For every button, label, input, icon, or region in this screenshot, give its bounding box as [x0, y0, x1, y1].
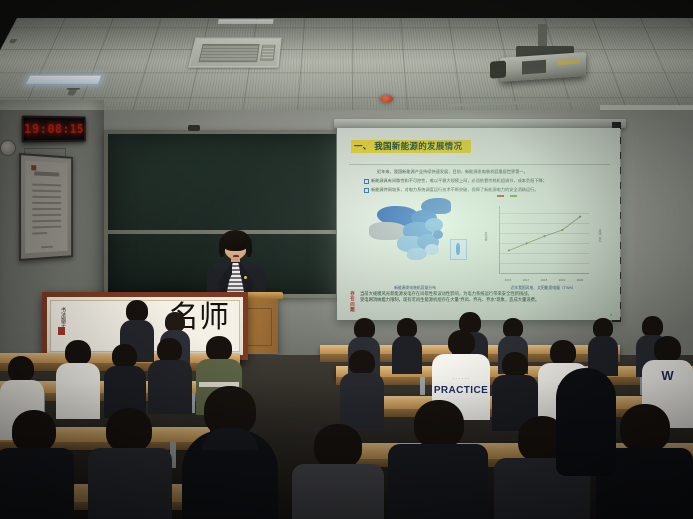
projection-screen: 一、 我国新能源的发展情况 近年来，我国新能源产业持续快速发展，目前，新能源发电…: [337, 128, 620, 320]
slide-bullet-2: 新能源并网较多，对电力系统调度运行技术不断突破，保障了新能源电力的安全消纳运行。: [363, 186, 610, 193]
student: [588, 318, 618, 372]
student-front-hoodie: [182, 386, 278, 519]
calligraphy-signature: 书法题字: [59, 307, 66, 327]
fluorescent-light: [25, 75, 102, 85]
x-tick: 2019: [559, 278, 566, 282]
digital-wall-clock: 19:08:15: [22, 115, 86, 142]
south-china-sea-inset: [450, 239, 467, 260]
projector-vent: [522, 60, 546, 75]
problem-text-line-2: 受电网消纳能力限制，现有可再生能源机组存在大量"弃风、弃光、弃水"现象，造成大量…: [360, 297, 610, 303]
slide-title-rule: [349, 164, 610, 165]
student: [492, 352, 538, 426]
student-front: [388, 400, 488, 519]
notice-page: [25, 161, 67, 254]
fluorescent-light-far: [218, 19, 274, 24]
legend-entry-0: [497, 194, 504, 198]
board-clip: [188, 125, 200, 131]
china-map: [363, 196, 467, 270]
student: [340, 350, 384, 424]
presenter-hair: [221, 230, 250, 251]
slide-bullet-1: 新能源具有间歇性和不可控性，难以平稳大规模上网，必须依靠传统机组调节，成本负担下…: [363, 177, 610, 184]
student-front: [88, 408, 172, 519]
student: [104, 344, 146, 414]
lecture-hall-photo: 19:08:15 一、 我国新能源的发展情况 近年来，我国新能源产业持续快速发展…: [0, 0, 693, 519]
slide-title-highlight: 一、 我国新能源的发展情况: [351, 140, 471, 153]
legend-entry-1: [510, 194, 517, 198]
projector-label: [558, 58, 580, 65]
analog-wall-clock-icon: [0, 140, 16, 156]
x-tick: 2020: [577, 278, 584, 282]
presentation-slide: 一、 我国新能源的发展情况 近年来，我国新能源产业持续快速发展，目前，新能源发电…: [337, 128, 620, 320]
slide-title: 一、 我国新能源的发展情况: [354, 140, 462, 153]
problem-tag-label: 存在问题: [349, 291, 356, 313]
chart-trend-line: [500, 206, 589, 259]
x-tick: 2016: [505, 278, 512, 282]
chart-y-axis-label: 发电量: [484, 232, 488, 241]
chart-plot-area: [499, 206, 589, 274]
projector-lens-icon: [490, 61, 506, 79]
student-front: [292, 424, 384, 519]
notice-title-line: [34, 171, 59, 176]
air-conditioner-vent-icon: [188, 37, 282, 67]
slide-body: 近年来，我国新能源产业持续快速发展，目前，新能源发电装机容量居世界第一。 新能源…: [363, 168, 610, 193]
problem-text: 当前大规模风光新能源发电存在间歇性和波动性影响，为电力系统运行带来安全性新挑战。…: [360, 291, 610, 313]
projection-screen-case: [334, 119, 626, 128]
notice-stamp-icon: [31, 165, 36, 170]
student-long-hair: [556, 368, 616, 478]
calligraphy-seal-icon: [58, 327, 65, 335]
bar-chart-figure: 发电量 占比（%）: [483, 194, 603, 290]
w-shirt-text-right: W: [642, 368, 693, 383]
chart-x-tick-labels: 2016 2017 2018 2019 2020: [499, 278, 589, 282]
smoke-detector-icon: [380, 95, 393, 103]
china-map-figure: 新能源发电装机容量分布: [359, 194, 471, 290]
slide-intro-text: 近年来，我国新能源产业持续快速发展，目前，新能源发电装机容量居世界第一。: [377, 168, 610, 175]
framed-notice: [19, 153, 73, 261]
practice-shirt-text: PRACTICE: [432, 385, 490, 396]
slide-problem-block: 存在问题 当前大规模风光新能源发电存在间歇性和波动性影响，为电力系统运行带来安全…: [349, 291, 610, 313]
student: [56, 340, 100, 416]
slide-page-number: 4: [610, 313, 612, 317]
x-tick: 2018: [541, 278, 548, 282]
practice-shirt-arc-text: · · · · · ·: [432, 376, 490, 381]
x-tick: 2017: [523, 278, 530, 282]
clock-time: 19:08:15: [24, 122, 84, 137]
student: [392, 318, 422, 370]
chart-y2-axis-label: 占比（%）: [598, 229, 602, 244]
chart-legend: [497, 194, 599, 198]
presenter-lapel-pin: [244, 276, 247, 279]
student-front: [0, 410, 74, 519]
